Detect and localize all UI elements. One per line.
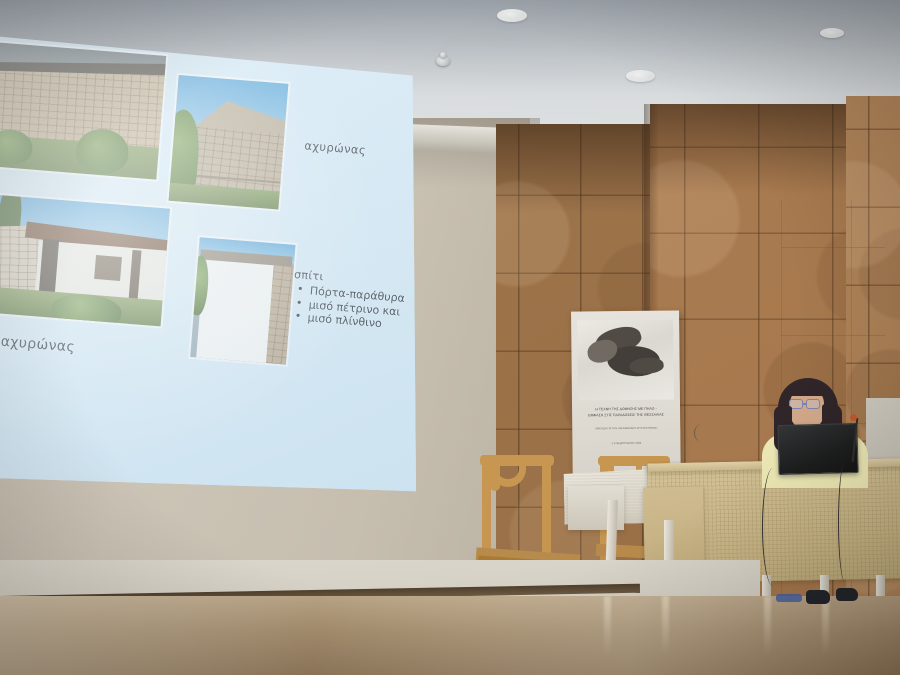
slide-content: αχυρώνας σπίτι Πόρτα-παράθυρα μισό πέτρι…	[0, 0, 437, 496]
smoke-detector-stem	[440, 52, 446, 58]
floor-blue-item	[776, 594, 802, 602]
presenter-hair-front	[788, 382, 826, 396]
photo3-window	[94, 255, 122, 281]
wall-cable	[694, 424, 710, 442]
banner-footer-date: 5-6 ΦΕΒΡΟΥΑΡΙΟΥ 2024	[580, 442, 672, 446]
presenter-shoe-left	[806, 590, 830, 604]
slide-heading-house: σπίτι	[294, 268, 325, 283]
photo-gabled-barn	[169, 75, 289, 209]
microphone-head-icon	[850, 414, 857, 421]
photo4-whitewashed-wall	[196, 260, 278, 364]
slide-house-bullets: Πόρτα-παράθυρα μισό πέτρινο και μισό πλί…	[294, 283, 405, 332]
photo-lintel-doorway	[190, 237, 295, 364]
presenter-shoe-right	[836, 588, 858, 601]
banner-illustration	[577, 320, 674, 401]
presenter-glasses-bridge	[803, 403, 806, 405]
floor-reflection-3	[764, 596, 771, 656]
ceiling-downlight-4	[820, 28, 844, 38]
stage-floor	[0, 596, 900, 675]
slide-label-barn-bottom: αχυρώνας	[0, 334, 76, 356]
floor-reflection-1	[604, 596, 611, 656]
banner-title-line-1: Η ΤΕΧΝΗ ΤΗΣ ΔΟΜΗΣΗΣ ΜΕ ΠΗΛΟ -	[577, 406, 675, 412]
projection-area: αχυρώνας σπίτι Πόρτα-παράθυρα μισό πέτρι…	[0, 26, 422, 494]
floor-reflection-4	[822, 596, 829, 656]
ceiling-downlight-2	[626, 70, 655, 82]
presenter-glasses-right-lens	[806, 399, 820, 409]
floor-reflection-2	[662, 596, 669, 656]
slide-label-barn-top: αχυρώνας	[304, 138, 367, 157]
ceiling-downlight-1	[497, 9, 527, 22]
banner-title-line-2: ΕΜΦΑΣΗ ΣΤΙΣ ΠΑΡΑΔΟΣΕΙΣ ΤΗΣ ΘΕΣΣΑΛΙΑΣ	[577, 412, 675, 418]
photo-stone-wall	[0, 42, 166, 180]
photo-ruined-house	[0, 193, 170, 326]
chair-left-backpost-r	[542, 459, 551, 559]
power-cable-2	[838, 462, 852, 582]
presentation-room-photo: αχυρώνας σπίτι Πόρτα-παράθυρα μισό πέτρι…	[0, 0, 900, 675]
power-cable-1	[762, 468, 784, 586]
banner-subtitle: ΗΜΕΡΙΔΑ ΓΙΑ ΤΗΝ ΠΑΡΑΔΟΣΙΑΚΗ ΑΡΧΙΤΕΚΤΟΝΙΚ…	[580, 427, 672, 432]
